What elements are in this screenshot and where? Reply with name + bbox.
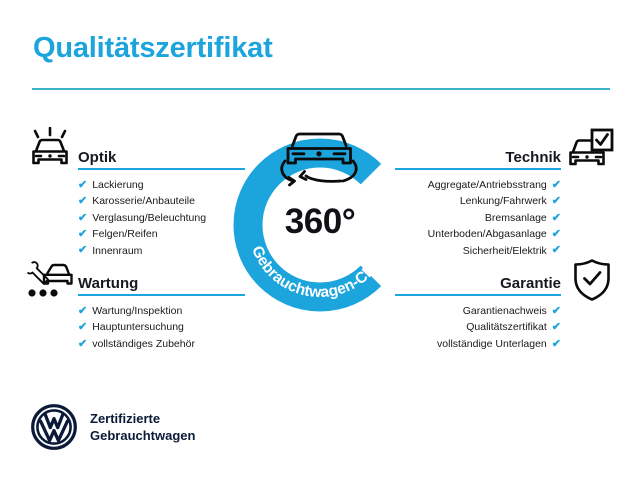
certificate-page: Qualitätszertifikat — [0, 0, 640, 480]
list-item-label: Qualitätszertifikat — [466, 319, 547, 335]
footer-line-1: Zertifizierte — [90, 410, 195, 427]
list-item-label: Garantienachweis — [463, 303, 547, 319]
footer-brand: Zertifizierte Gebrauchtwagen — [31, 404, 195, 450]
check-icon: ✔ — [552, 245, 561, 256]
check-icon: ✔ — [78, 213, 87, 224]
wrench-car-icon — [24, 258, 74, 305]
list-item-label: Lenkung/Fahrwerk — [460, 193, 547, 209]
list-item: Lenkung/Fahrwerk✔ — [395, 193, 561, 209]
check-icon: ✔ — [78, 180, 87, 191]
check-icon: ✔ — [552, 213, 561, 224]
section-technik-title: Technik — [505, 149, 561, 166]
section-optik-header: Optik — [78, 142, 245, 170]
section-technik-list: Aggregate/Antriebsstrang✔ Lenkung/Fahrwe… — [395, 177, 561, 259]
list-item-label: Unterboden/Abgasanlage — [428, 226, 547, 242]
section-garantie-title: Garantie — [500, 275, 561, 292]
check-icon: ✔ — [78, 245, 87, 256]
check-icon: ✔ — [78, 322, 87, 333]
page-title: Qualitätszertifikat — [33, 32, 273, 65]
list-item: Bremsanlage✔ — [395, 210, 561, 226]
list-item-label: Hauptuntersuchung — [92, 319, 184, 335]
list-item-label: Verglasung/Beleuchtung — [92, 210, 206, 226]
360-badge: Gebrauchtwagen-Check 360° — [225, 113, 415, 313]
section-garantie: Garantie Garantienachweis✔ Qualitätszert… — [395, 268, 561, 352]
section-garantie-list: Garantienachweis✔ Qualitätszertifikat✔ v… — [395, 303, 561, 352]
list-item-label: vollständiges Zubehör — [92, 336, 195, 352]
list-item: ✔Felgen/Reifen — [78, 226, 245, 242]
list-item: Sicherheit/Elektrik✔ — [395, 243, 561, 259]
section-wartung-divider — [78, 294, 245, 296]
check-icon: ✔ — [78, 196, 87, 207]
section-wartung-list: ✔Wartung/Inspektion ✔Hauptuntersuchung ✔… — [78, 303, 245, 352]
list-item: Garantienachweis✔ — [395, 303, 561, 319]
list-item: ✔Wartung/Inspektion — [78, 303, 245, 319]
list-item: ✔Karosserie/Anbauteile — [78, 193, 245, 209]
section-optik-list: ✔Lackierung ✔Karosserie/Anbauteile ✔Verg… — [78, 177, 245, 259]
check-icon: ✔ — [552, 196, 561, 207]
section-wartung-title: Wartung — [78, 275, 138, 292]
list-item-label: Sicherheit/Elektrik — [463, 243, 547, 259]
section-optik-title: Optik — [78, 149, 116, 166]
list-item: ✔Verglasung/Beleuchtung — [78, 210, 245, 226]
section-technik-header: Technik — [395, 142, 561, 170]
list-item: ✔Lackierung — [78, 177, 245, 193]
list-item-label: Aggregate/Antriebsstrang — [428, 177, 547, 193]
section-technik-divider — [395, 168, 561, 170]
check-icon: ✔ — [552, 322, 561, 333]
shield-check-icon — [572, 258, 612, 307]
badge-graphic: Gebrauchtwagen-Check — [225, 113, 415, 313]
list-item: ✔Innenraum — [78, 243, 245, 259]
check-icon: ✔ — [78, 229, 87, 240]
car-checkbox-icon — [566, 127, 614, 176]
section-garantie-divider — [395, 294, 561, 296]
section-garantie-header: Garantie — [395, 268, 561, 296]
section-technik: Technik Aggregate/Antriebsstrang✔ Lenkun… — [395, 142, 561, 259]
header-divider — [32, 88, 610, 90]
section-wartung: Wartung ✔Wartung/Inspektion ✔Hauptunters… — [78, 268, 245, 352]
section-optik: Optik ✔Lackierung ✔Karosserie/Anbauteile… — [78, 142, 245, 259]
list-item-label: vollständige Unterlagen — [437, 336, 547, 352]
check-icon: ✔ — [552, 339, 561, 350]
list-item-label: Wartung/Inspektion — [92, 303, 182, 319]
list-item: ✔Hauptuntersuchung — [78, 319, 245, 335]
check-icon: ✔ — [552, 306, 561, 317]
list-item-label: Lackierung — [92, 177, 143, 193]
check-icon: ✔ — [552, 229, 561, 240]
list-item-label: Karosserie/Anbauteile — [92, 193, 195, 209]
footer-line-2: Gebrauchtwagen — [90, 427, 195, 444]
check-icon: ✔ — [552, 180, 561, 191]
footer-brand-text: Zertifizierte Gebrauchtwagen — [90, 410, 195, 444]
car-shine-icon — [27, 127, 73, 176]
check-icon: ✔ — [78, 339, 87, 350]
check-icon: ✔ — [78, 306, 87, 317]
list-item-label: Felgen/Reifen — [92, 226, 157, 242]
list-item: ✔vollständiges Zubehör — [78, 336, 245, 352]
list-item-label: Bremsanlage — [485, 210, 547, 226]
list-item-label: Innenraum — [92, 243, 142, 259]
section-wartung-header: Wartung — [78, 268, 245, 296]
section-optik-divider — [78, 168, 245, 170]
list-item: Qualitätszertifikat✔ — [395, 319, 561, 335]
list-item: Unterboden/Abgasanlage✔ — [395, 226, 561, 242]
list-item: Aggregate/Antriebsstrang✔ — [395, 177, 561, 193]
list-item: vollständige Unterlagen✔ — [395, 336, 561, 352]
vw-logo — [31, 404, 77, 450]
